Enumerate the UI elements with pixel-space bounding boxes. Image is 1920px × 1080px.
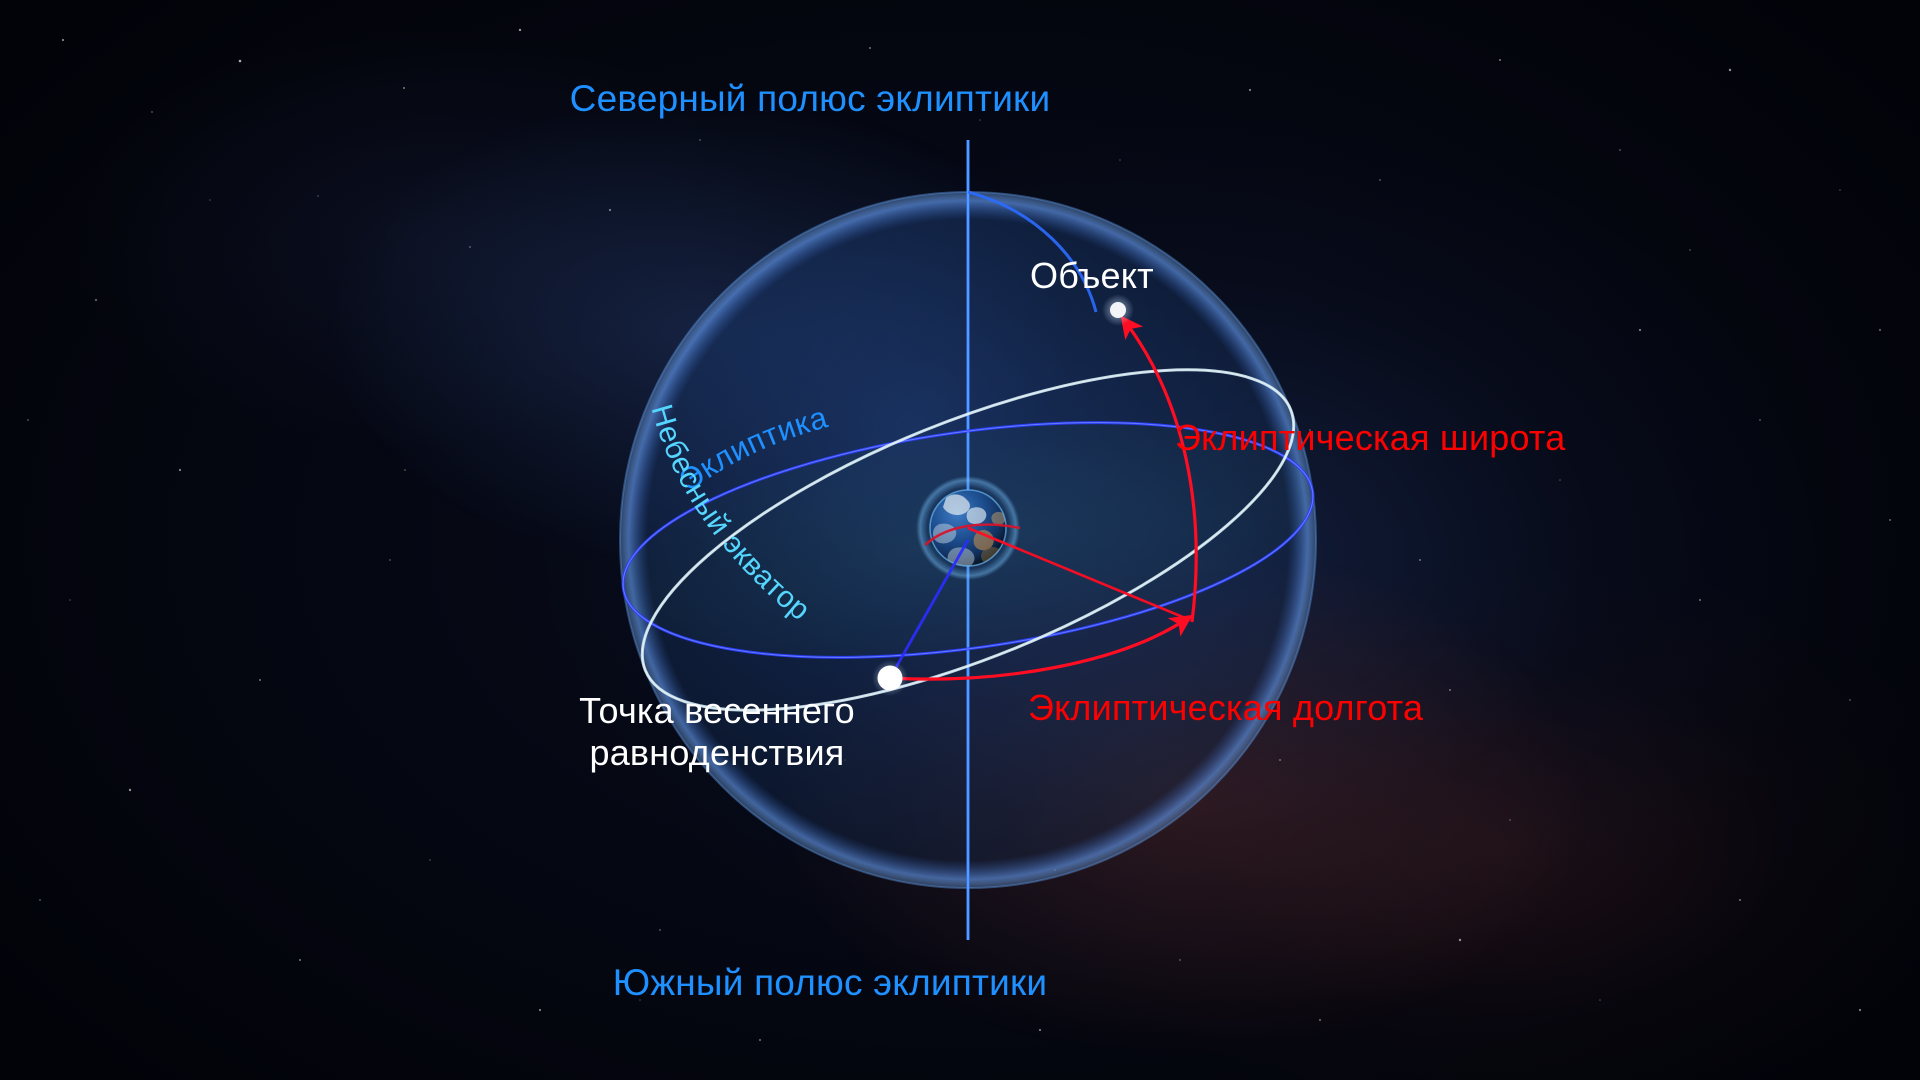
vernal-equinox-dot xyxy=(872,660,908,696)
diagram-canvas: Эклиптика Небесный экватор Северный полю… xyxy=(0,0,1920,1080)
celestial-sphere-diagram: Эклиптика Небесный экватор xyxy=(0,0,1920,1080)
object-dot xyxy=(1102,294,1134,326)
